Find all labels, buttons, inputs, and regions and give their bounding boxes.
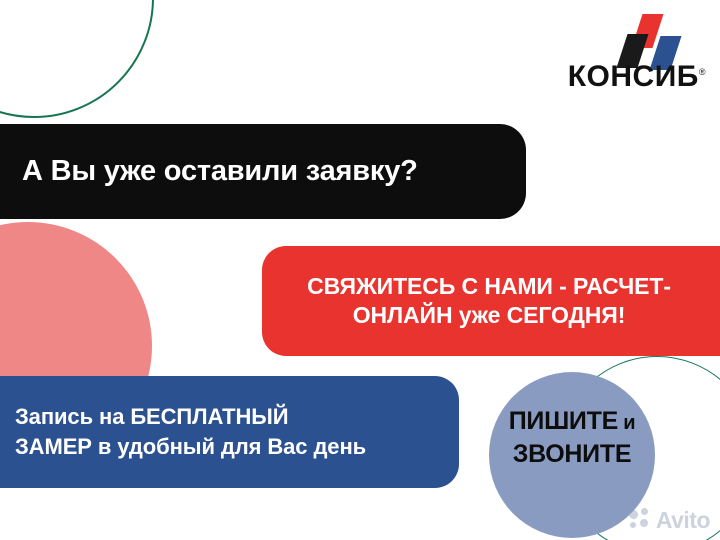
brand-logo: КОНСИБ® bbox=[562, 14, 706, 100]
question-banner: А Вы уже оставили заявку? bbox=[0, 124, 526, 219]
measurement-banner-line1: Запись на БЕСПЛАТНЫЙ bbox=[15, 404, 288, 429]
contact-banner-line2-online: ОНЛАЙН bbox=[353, 302, 459, 328]
contact-banner: СВЯЖИТЕСЬ С НАМИ - РАСЧЕТ-ОНЛАЙН уже СЕГ… bbox=[262, 246, 720, 356]
cta-line1-main: ПИШИТЕ bbox=[509, 407, 618, 435]
logo-diamonds-icon bbox=[562, 14, 706, 64]
measurement-banner-line2: ЗАМЕР в удобный для Вас день bbox=[15, 434, 366, 459]
call-to-action-text: ПИШИТЕ иЗВОНИТЕ bbox=[489, 405, 655, 470]
avito-watermark-label: Avito bbox=[656, 509, 710, 532]
contact-banner-line2-already: уже bbox=[459, 302, 507, 328]
registered-trademark-icon: ® bbox=[699, 67, 706, 77]
logo-wordmark-text: КОНСИБ bbox=[568, 60, 699, 93]
measurement-banner-text: Запись на БЕСПЛАТНЫЙЗАМЕР в удобный для … bbox=[15, 402, 366, 463]
promo-banner: КОНСИБ® А Вы уже оставили заявку? СВЯЖИТ… bbox=[0, 0, 720, 540]
avito-dots-icon bbox=[629, 508, 653, 532]
cta-line1-conjunction: и bbox=[618, 412, 635, 434]
logo-wordmark: КОНСИБ® bbox=[562, 62, 706, 92]
contact-banner-text: СВЯЖИТЕСЬ С НАМИ - РАСЧЕТ-ОНЛАЙН уже СЕГ… bbox=[307, 272, 671, 331]
contact-banner-line1: СВЯЖИТЕСЬ С НАМИ - РАСЧЕТ- bbox=[307, 273, 671, 299]
green-circle-outline-top-left-icon bbox=[0, 0, 154, 118]
avito-watermark: Avito bbox=[629, 508, 710, 532]
measurement-banner: Запись на БЕСПЛАТНЫЙЗАМЕР в удобный для … bbox=[0, 376, 459, 488]
cta-line2: ЗВОНИТЕ bbox=[513, 440, 631, 468]
question-banner-text: А Вы уже оставили заявку? bbox=[22, 155, 418, 188]
contact-banner-line2-today: СЕГОДНЯ! bbox=[507, 302, 626, 328]
